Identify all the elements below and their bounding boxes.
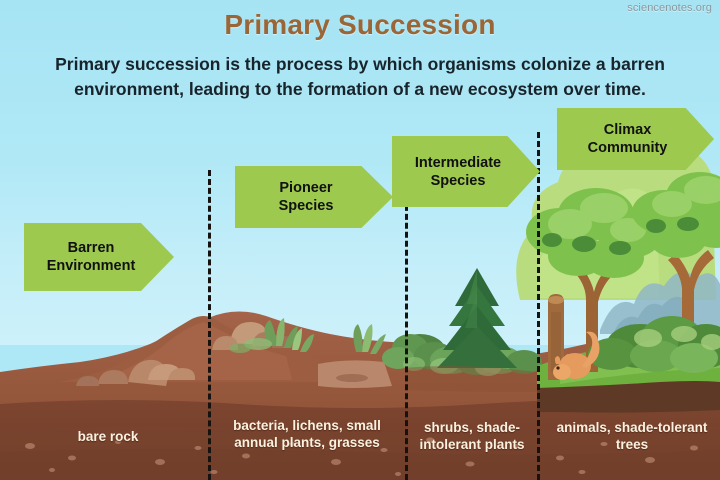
stage-caption-climax: animals, shade-tolerant trees <box>548 419 716 453</box>
arrow-label-line2: Species <box>279 197 334 215</box>
page-title: Primary Succession <box>0 9 720 41</box>
arrow-label-line1: Pioneer <box>279 179 334 197</box>
arrow-label-line2: Community <box>588 139 668 157</box>
arrow-label-line2: Species <box>415 172 501 190</box>
soil-lip <box>405 366 537 392</box>
stage-divider-1 <box>208 170 211 480</box>
arrow-label-line1: Barren <box>47 239 136 257</box>
stage-divider-3 <box>537 132 540 480</box>
arrow-label-line1: Climax <box>588 121 668 139</box>
stage-caption-intermediate: shrubs, shade-intolerant plants <box>410 419 534 453</box>
arrow-label-line2: Environment <box>47 257 136 275</box>
stage-divider-2 <box>405 160 408 480</box>
stage-caption-bare-rock: bare rock <box>18 428 198 445</box>
infographic-canvas: sciencenotes.org Primary Succession Prim… <box>0 0 720 480</box>
arrow-label-line1: Intermediate <box>415 154 501 172</box>
stage-arrow-pioneer-species: Pioneer Species <box>235 166 393 228</box>
stage-caption-pioneer: bacteria, lichens, small annual plants, … <box>212 417 402 451</box>
page-subtitle: Primary succession is the process by whi… <box>26 52 694 102</box>
stage-arrow-climax-community: Climax Community <box>557 108 714 170</box>
